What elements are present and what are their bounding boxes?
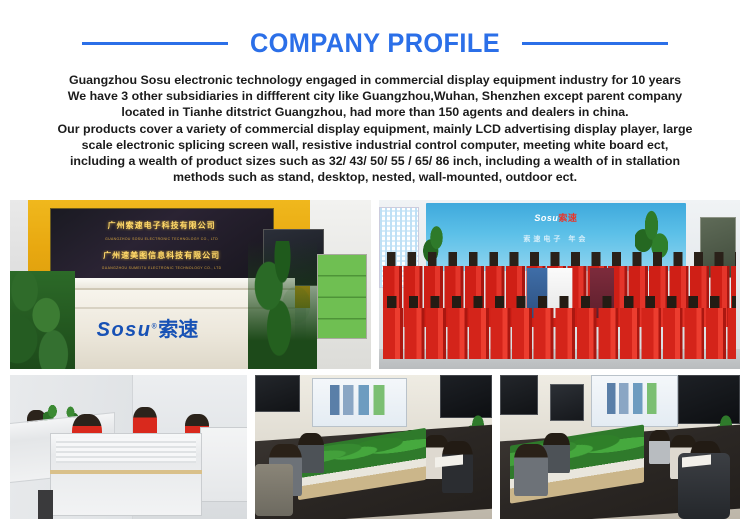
profile-line-3: located in Tianhe ditstrict Guangzhou, h… <box>22 104 728 120</box>
sign-line-2-cn: 广州速美图信息科技有限公司 <box>68 250 254 261</box>
sign-line-1-en: GUANGZHOU SOSU ELECTRONIC TECHNOLOGY CO.… <box>68 237 254 241</box>
profile-line-1: Guangzhou Sosu electronic technology eng… <box>22 72 728 88</box>
divider-line-right-icon <box>522 42 668 45</box>
desk-logo-brand-cn: 索速 <box>158 319 198 341</box>
reception-desk-logo: Sosu®索速 <box>97 313 199 342</box>
meeting-room-photo-b <box>500 375 740 519</box>
photo-gallery: 广州索速电子科技有限公司 GUANGZHOU SOSU ELECTRONIC T… <box>10 200 740 519</box>
profile-line-7: methods such as stand, desktop, nested, … <box>22 169 728 185</box>
sign-line-2-en: GUANGZHOU SUMEITU ELECTRONIC TECHNOLOGY … <box>68 266 254 270</box>
company-profile-text: Guangzhou Sosu electronic technology eng… <box>22 70 728 185</box>
meeting-b-display-left <box>500 375 538 415</box>
reception-plant-left <box>10 271 75 369</box>
meeting-a-attendee-4 <box>442 441 473 493</box>
desk-logo-brand: Sosu <box>97 319 152 341</box>
meeting-room-photo-a <box>255 375 492 519</box>
office-scene <box>10 375 247 519</box>
office-desk-edge <box>50 470 202 474</box>
divider-line-left-icon <box>82 42 228 45</box>
team-front-row-jackets <box>383 308 737 359</box>
meeting-b-attendee-1 <box>514 444 548 496</box>
page-header: COMPANY PROFILE <box>0 0 750 70</box>
backdrop-logo: Sosu索速 <box>534 211 577 224</box>
meeting-b-attendee-5 <box>649 430 671 465</box>
backdrop-logo-mark: 索速 <box>558 213 577 223</box>
reception-green-lockers <box>317 254 368 339</box>
meeting-a-display-left <box>255 375 300 412</box>
reception-plant-right <box>248 241 317 369</box>
team-scene: Sosu索速 索速电子 年会 <box>379 200 740 369</box>
meeting-b-display-mid <box>550 384 584 421</box>
office-waste-bin <box>38 490 52 519</box>
meeting-a-chair-left <box>255 464 293 516</box>
profile-line-2: We have 3 other subsidiaries in difffere… <box>22 88 728 104</box>
gallery-row-top: 广州索速电子科技有限公司 GUANGZHOU SOSU ELECTRONIC T… <box>10 200 740 369</box>
office-workspace-photo <box>10 375 247 519</box>
profile-line-6: including a wealth of product sizes such… <box>22 153 728 169</box>
reception-photo: 广州索速电子科技有限公司 GUANGZHOU SOSU ELECTRONIC T… <box>10 200 371 369</box>
backdrop-logo-text: Sosu <box>534 213 558 223</box>
meeting-a-scene <box>255 375 492 519</box>
meeting-a-presentation-screen <box>312 378 407 427</box>
team-group-photo: Sosu索速 索速电子 年会 <box>379 200 740 369</box>
meeting-b-scene <box>500 375 740 519</box>
profile-line-4: Our products cover a variety of commerci… <box>22 121 728 137</box>
gallery-row-bottom <box>10 375 740 519</box>
page-title: COMPANY PROFILE <box>250 28 500 59</box>
profile-line-5: scale electronic splicing screen wall, r… <box>22 137 728 153</box>
office-cubicle-right <box>200 427 247 502</box>
office-cubicle-front <box>50 433 202 517</box>
meeting-b-presentation-screen <box>591 375 677 427</box>
reception-scene: 广州索速电子科技有限公司 GUANGZHOU SOSU ELECTRONIC T… <box>10 200 371 369</box>
backdrop-subtitle: 索速电子 年会 <box>523 234 588 244</box>
sign-line-1-cn: 广州索速电子科技有限公司 <box>68 220 254 231</box>
reception-company-sign: 广州索速电子科技有限公司 GUANGZHOU SOSU ELECTRONIC T… <box>50 208 274 287</box>
